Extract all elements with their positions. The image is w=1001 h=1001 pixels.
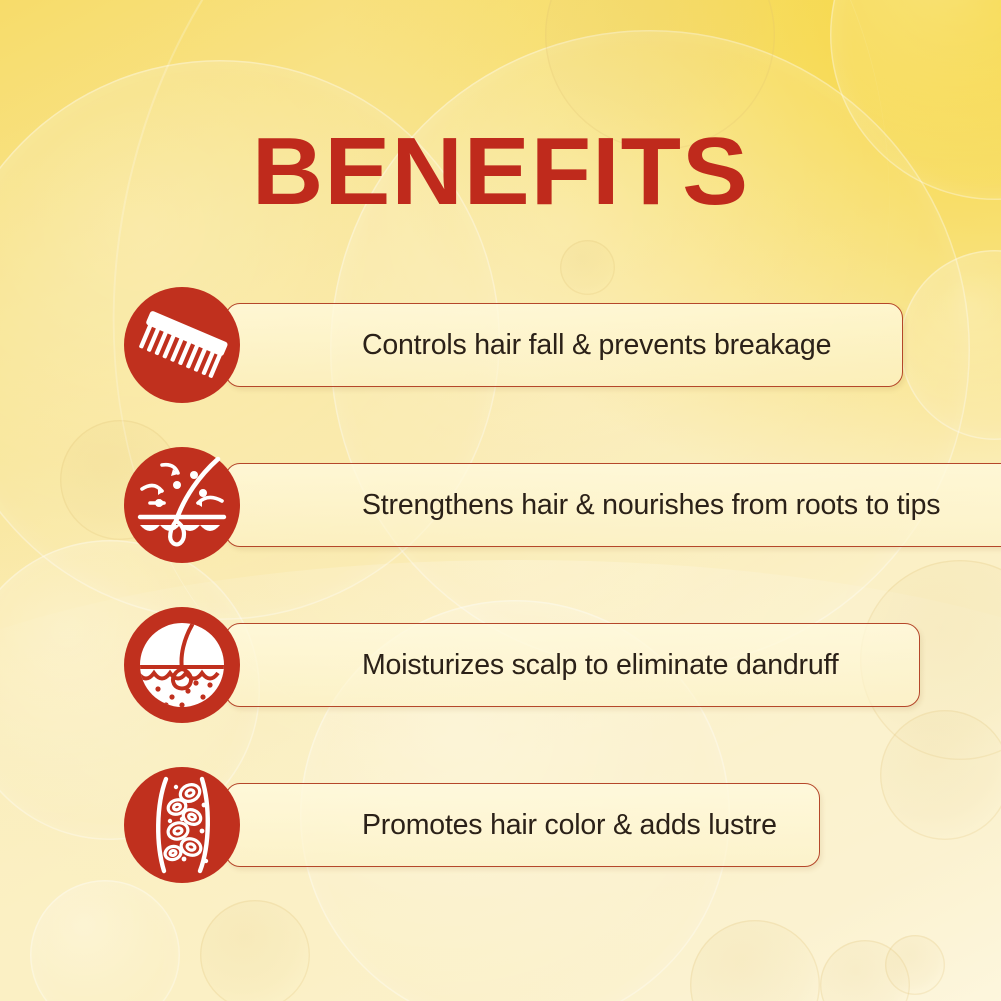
benefit-pill: Strengthens hair & nourishes from roots … (225, 463, 1001, 547)
benefit-badge (118, 601, 246, 729)
benefit-pill: Moisturizes scalp to eliminate dandruff (225, 623, 920, 707)
benefit-label: Promotes hair color & adds lustre (362, 809, 777, 842)
benefit-badge (118, 281, 246, 409)
benefits-list: Controls hair fall & prevents breakage (0, 0, 1001, 1001)
benefit-pill: Controls hair fall & prevents breakage (225, 303, 903, 387)
benefit-label: Strengthens hair & nourishes from roots … (362, 489, 940, 522)
benefit-pill: Promotes hair color & adds lustre (225, 783, 820, 867)
benefit-label: Moisturizes scalp to eliminate dandruff (362, 649, 838, 682)
comb-icon (118, 281, 246, 409)
scalp-dandruff-icon (118, 601, 246, 729)
benefits-poster: BENEFITS Controls hair fall & prevents b… (0, 0, 1001, 1001)
blood-vessel-cells-icon (118, 761, 246, 889)
benefit-label: Controls hair fall & prevents breakage (362, 329, 831, 362)
hair-follicle-roots-icon (118, 441, 246, 569)
benefit-badge (118, 441, 246, 569)
benefit-badge (118, 761, 246, 889)
